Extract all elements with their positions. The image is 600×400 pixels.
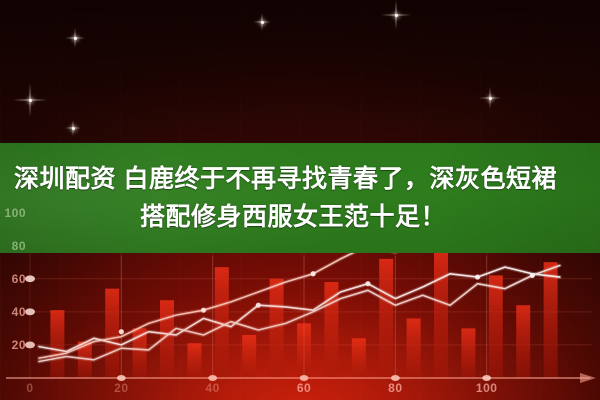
screenshot-root: 深圳配资 白鹿终于不再寻找青春了，深灰色短裙 搭配修身西服女王范十足！ 2040… [0, 0, 600, 400]
headline: 深圳配资 白鹿终于不再寻找青春了，深灰色短裙 搭配修身西服女王范十足！ [0, 143, 600, 253]
headline-line-1: 深圳配资 白鹿终于不再寻找青春了，深灰色短裙 [14, 160, 586, 198]
headline-line-2: 搭配修身西服女王范十足！ [14, 198, 586, 236]
